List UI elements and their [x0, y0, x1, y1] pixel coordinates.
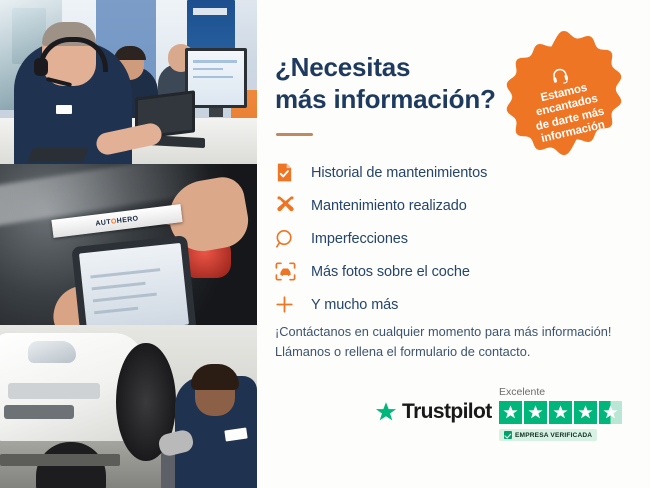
feature-item-maintenance-history: Historial de mantenimientos	[275, 156, 625, 189]
content-panel: ¿Necesitas más información? Estamos enca…	[257, 0, 650, 488]
verified-company-badge: EMPRESA VERIFICADA	[499, 429, 597, 441]
star-1	[499, 401, 522, 424]
promo-starburst-badge: Estamos encantados de darte más informac…	[498, 27, 630, 159]
feature-list: Historial de mantenimientos Mantenimient…	[275, 156, 625, 321]
feature-item-much-more: Y mucho más	[275, 288, 625, 321]
agent-headset-earcup	[34, 58, 48, 76]
trustpilot-rating: Excelente EMPRESA VERIFICADA	[499, 386, 639, 444]
page-title: ¿Necesitas más información?	[275, 52, 525, 115]
desk-tablet-shape	[27, 148, 89, 162]
check-icon	[504, 431, 512, 439]
magnifier-icon	[275, 229, 311, 249]
trustpilot-logo[interactable]: Trustpilot	[375, 400, 492, 424]
contact-line-1: ¡Contáctanos en cualquier momento para m…	[275, 322, 635, 342]
car-scan-icon	[275, 262, 311, 281]
agent-name-badge	[56, 105, 72, 114]
headset-icon	[548, 64, 572, 86]
contact-line-2: Llámanos o rellena el formulario de cont…	[275, 342, 635, 362]
star-4	[574, 401, 597, 424]
tools-icon	[275, 195, 311, 216]
trustpilot-star-icon	[375, 401, 397, 423]
car-lift-shape	[0, 454, 120, 466]
feature-label: Historial de mantenimientos	[311, 165, 487, 181]
contact-text: ¡Contáctanos en cualquier momento para m…	[275, 322, 635, 362]
feature-item-imperfections: Imperfecciones	[275, 222, 625, 255]
feature-label: Mantenimiento realizado	[311, 198, 467, 214]
trustpilot-wordmark: Trustpilot	[402, 400, 492, 424]
workshop-photo	[0, 325, 257, 488]
heading-line-2: más información?	[275, 84, 525, 116]
verified-label: EMPRESA VERIFICADA	[515, 432, 592, 439]
feature-label: Y mucho más	[311, 297, 398, 313]
star-rating	[499, 401, 639, 424]
headlamp-shape	[28, 341, 76, 363]
trustpilot-block: Trustpilot Excelente EMPRESA VERIFICADA	[375, 386, 637, 448]
feature-label: Más fotos sobre el coche	[311, 264, 470, 280]
inspection-tablet	[71, 235, 196, 325]
feature-item-more-photos: Más fotos sobre el coche	[275, 255, 625, 288]
promo-card: AUTOHERO	[0, 0, 650, 488]
grille-upper-shape	[8, 383, 100, 399]
star-2	[524, 401, 547, 424]
inspection-photo: AUTOHERO	[0, 164, 257, 325]
plus-icon	[275, 295, 311, 314]
call-center-photo	[0, 0, 257, 164]
star-3	[549, 401, 572, 424]
maintenance-history-icon	[275, 162, 311, 183]
feature-item-maintenance-done: Mantenimiento realizado	[275, 189, 625, 222]
grille-lower-shape	[4, 405, 74, 419]
title-divider	[276, 133, 313, 136]
heading-line-1: ¿Necesitas	[275, 52, 410, 82]
photo-column: AUTOHERO	[0, 0, 257, 488]
star-5-half	[599, 401, 622, 424]
rating-label: Excelente	[499, 386, 639, 398]
feature-label: Imperfecciones	[311, 231, 408, 247]
